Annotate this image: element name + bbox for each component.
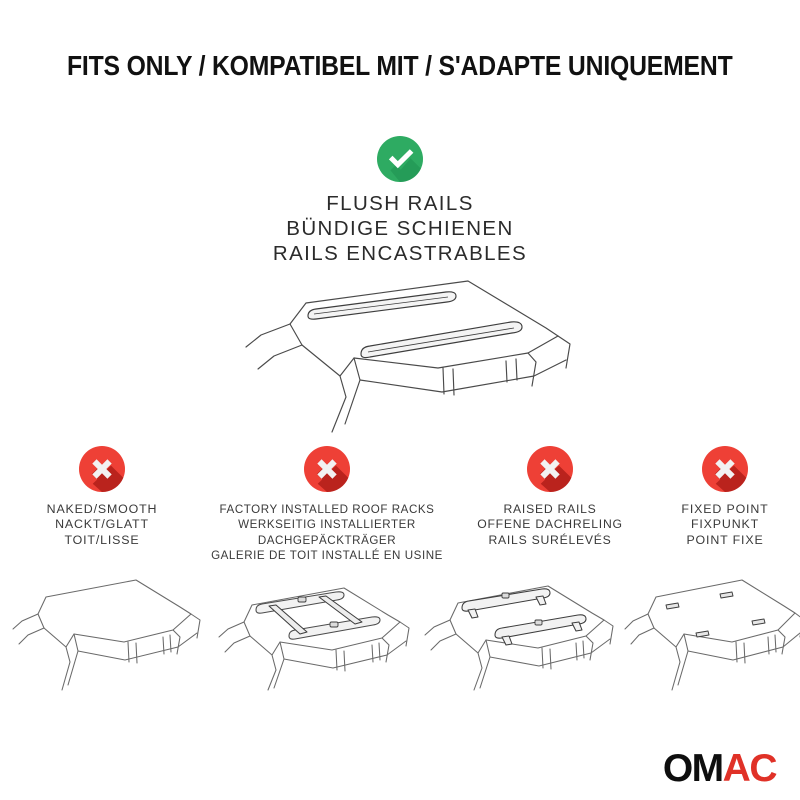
- incompatible-option-naked-smooth: NAKED/SMOOTH NACKT/GLATT TOIT/LISSE: [0, 446, 204, 548]
- car-roof-naked-smooth-illustration: [8, 552, 208, 692]
- badge-row: [0, 446, 204, 498]
- incompatible-illustration-row: [0, 552, 800, 692]
- cross-icon: [527, 446, 573, 492]
- page-title-container: FITS ONLY / KOMPATIBEL MIT / S'ADAPTE UN…: [0, 52, 800, 80]
- compatible-label-fr: RAILS ENCASTRABLES: [0, 241, 800, 266]
- compatible-labels: FLUSH RAILS BÜNDIGE SCHIENEN RAILS ENCAS…: [0, 191, 800, 266]
- compatible-label-de: BÜNDIGE SCHIENEN: [0, 216, 800, 241]
- car-roof-factory-roof-racks-illustration: [212, 552, 422, 692]
- incompatible-label-de: FIXPUNKT: [650, 517, 800, 532]
- badge-row: [650, 446, 800, 498]
- incompatible-section: NAKED/SMOOTH NACKT/GLATT TOIT/LISSE FACT…: [0, 446, 800, 564]
- incompatible-label-en: FACTORY INSTALLED ROOF RACKS: [204, 502, 450, 517]
- logo-text-om: OM: [663, 747, 723, 790]
- incompatible-option-factory-roof-racks: FACTORY INSTALLED ROOF RACKS WERKSEITIG …: [204, 446, 450, 564]
- logo-text-ac: AC: [723, 747, 776, 790]
- incompatible-label-fr: RAILS SURÉLEVÉS: [450, 533, 650, 548]
- cross-icon: [304, 446, 350, 492]
- car-roof-flush-rails-illustration: [228, 272, 608, 437]
- compatible-section: FLUSH RAILS BÜNDIGE SCHIENEN RAILS ENCAS…: [0, 136, 800, 266]
- incompatible-option-raised-rails: RAISED RAILS OFFENE DACHRELING RAILS SUR…: [450, 446, 650, 548]
- incompatible-label-fr: TOIT/LISSE: [0, 533, 204, 548]
- compatible-label-en: FLUSH RAILS: [0, 191, 800, 216]
- page-title: FITS ONLY / KOMPATIBEL MIT / S'ADAPTE UN…: [67, 52, 733, 80]
- incompatible-label-de: OFFENE DACHRELING: [450, 517, 650, 532]
- car-roof-raised-rails-illustration: [420, 552, 625, 692]
- incompatible-label-de-2: DACHGEPÄCKTRÄGER: [204, 533, 450, 548]
- incompatible-label-de: NACKT/GLATT: [0, 517, 204, 532]
- incompatible-labels: RAISED RAILS OFFENE DACHRELING RAILS SUR…: [450, 502, 650, 548]
- badge-row: [450, 446, 650, 498]
- incompatible-labels: NAKED/SMOOTH NACKT/GLATT TOIT/LISSE: [0, 502, 204, 548]
- incompatible-label-fr: POINT FIXE: [650, 533, 800, 548]
- incompatible-label-en: NAKED/SMOOTH: [0, 502, 204, 517]
- car-roof-fixed-point-illustration: [622, 552, 800, 692]
- badge-row: [204, 446, 450, 498]
- incompatible-label-en: RAISED RAILS: [450, 502, 650, 517]
- incompatible-label-en: FIXED POINT: [650, 502, 800, 517]
- incompatible-labels: FIXED POINT FIXPUNKT POINT FIXE: [650, 502, 800, 548]
- incompatible-label-de-1: WERKSEITIG INSTALLIERTER: [204, 517, 450, 532]
- cross-icon: [702, 446, 748, 492]
- omac-logo: OMAC: [663, 752, 776, 786]
- check-icon: [377, 136, 423, 182]
- incompatible-option-fixed-point: FIXED POINT FIXPUNKT POINT FIXE: [650, 446, 800, 548]
- cross-icon: [79, 446, 125, 492]
